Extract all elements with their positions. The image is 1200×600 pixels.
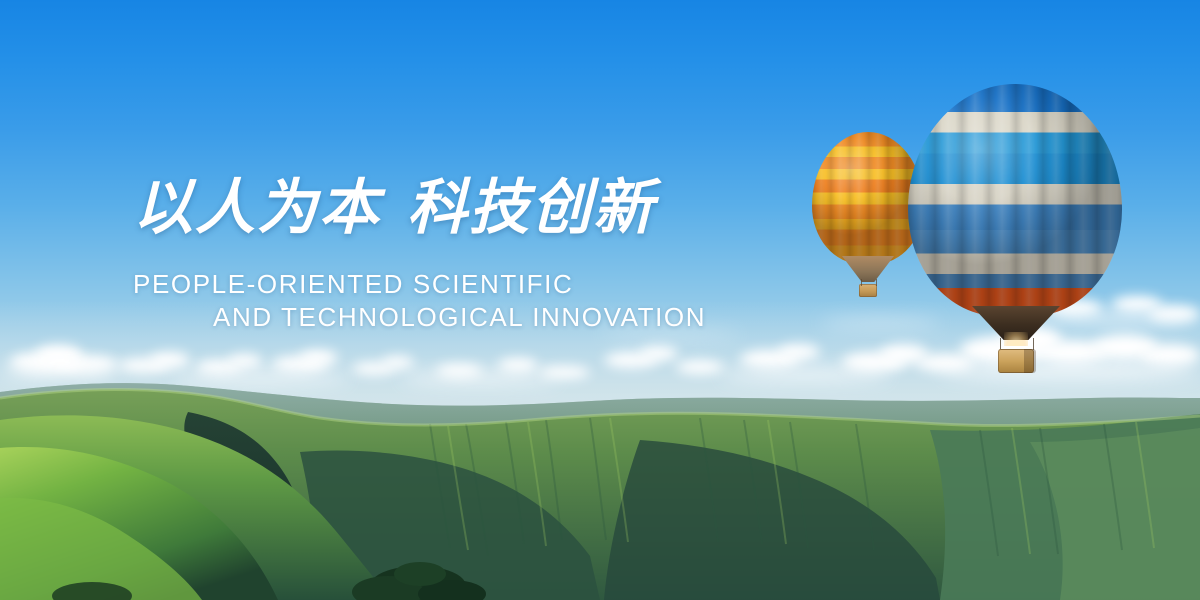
blue-balloon-shading: [908, 84, 1122, 316]
blue-balloon-envelope: [908, 84, 1122, 316]
foreground-shrub-left: [52, 582, 132, 600]
headline-part-1: 以人为本: [133, 173, 381, 243]
subtitle-block: PEOPLE-ORIENTED SCIENTIFIC AND TECHNOLOG…: [133, 268, 773, 335]
subtitle-line-1: PEOPLE-ORIENTED SCIENTIFIC: [133, 268, 773, 301]
headline-part-2: 科技创新: [407, 173, 655, 243]
foreground-tree: [352, 562, 486, 600]
blue-balloon: [908, 84, 1138, 359]
hero-banner: 以人为本科技创新 PEOPLE-ORIENTED SCIENTIFIC AND …: [0, 0, 1200, 600]
blue-balloon-basket-shadow: [1024, 349, 1036, 373]
hero-copy: 以人为本科技创新 PEOPLE-ORIENTED SCIENTIFIC AND …: [133, 178, 773, 335]
page-title: 以人为本科技创新: [133, 178, 773, 238]
orange-balloon-cables: [861, 279, 877, 286]
subtitle-line-2: AND TECHNOLOGICAL INNOVATION: [133, 301, 773, 334]
